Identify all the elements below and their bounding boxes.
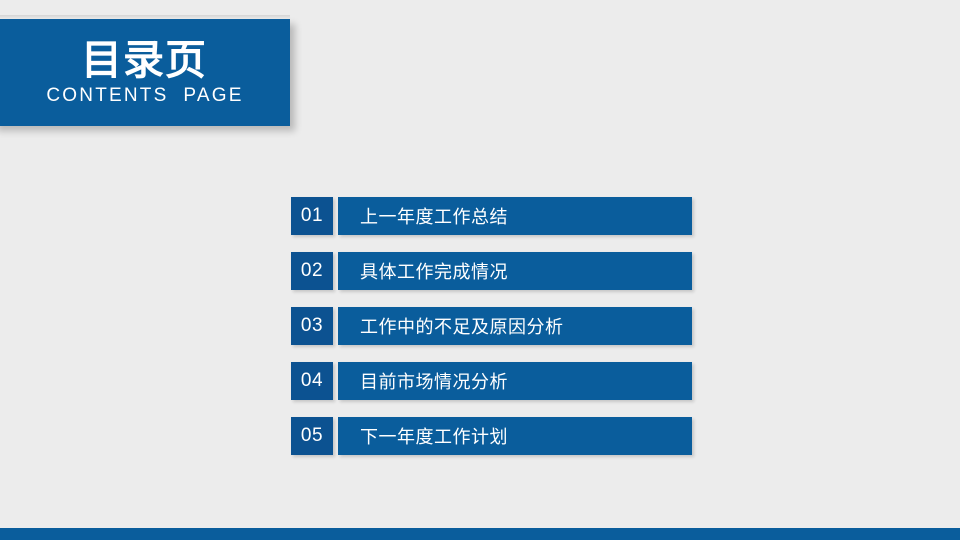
list-item-label[interactable]: 下一年度工作计划 [338,417,692,455]
list-item-index: 03 [291,307,333,345]
list-item-index: 01 [291,197,333,235]
list-item[interactable]: 05 下一年度工作计划 [291,417,692,455]
title-block: 目录页 CONTENTS PAGE [0,19,290,126]
list-item[interactable]: 03 工作中的不足及原因分析 [291,307,692,345]
contents-list: 01 上一年度工作总结 02 具体工作完成情况 03 工作中的不足及原因分析 0… [291,197,692,455]
list-item-label[interactable]: 上一年度工作总结 [338,197,692,235]
list-item-index: 05 [291,417,333,455]
list-item[interactable]: 01 上一年度工作总结 [291,197,692,235]
list-item-index: 02 [291,252,333,290]
slide-canvas: 目录页 CONTENTS PAGE 01 上一年度工作总结 02 具体工作完成情… [0,0,960,540]
list-item[interactable]: 04 目前市场情况分析 [291,362,692,400]
bottom-accent-bar [0,528,960,540]
list-item-label[interactable]: 工作中的不足及原因分析 [338,307,692,345]
list-item[interactable]: 02 具体工作完成情况 [291,252,692,290]
list-item-label[interactable]: 具体工作完成情况 [338,252,692,290]
page-title-en: CONTENTS PAGE [46,86,243,107]
page-title-cn: 目录页 [81,39,207,82]
list-item-index: 04 [291,362,333,400]
list-item-label[interactable]: 目前市场情况分析 [338,362,692,400]
